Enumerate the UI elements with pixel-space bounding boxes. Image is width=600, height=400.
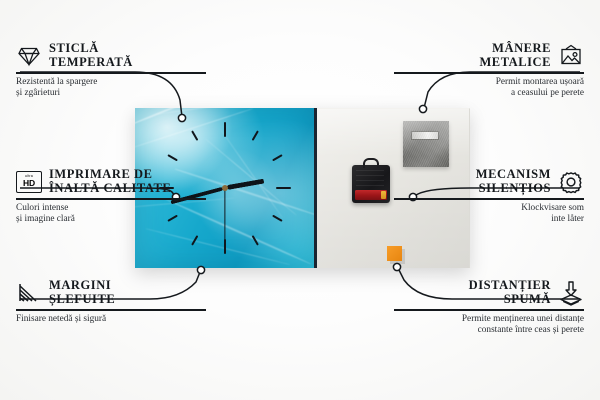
callout-title-line2: ÎNALTĂ CALITATE	[49, 181, 171, 195]
callout-title-line1: IMPRIMARE DE	[49, 167, 152, 181]
callout-subtitle-line2: inte låter	[551, 214, 584, 224]
callout-divider	[394, 198, 584, 200]
mechanism-detail	[356, 170, 384, 188]
polished-edge-icon	[16, 281, 42, 305]
callout-title-line1: STICLĂ	[49, 41, 99, 55]
callout-polished-edges: MARGINI ȘLEFUITE Finisare netedă și sigu…	[16, 279, 206, 325]
callout-divider	[16, 309, 206, 311]
ultra-hd-icon-big-text: HD	[23, 179, 35, 188]
battery	[355, 190, 387, 200]
mechanism-hanging-loop	[363, 158, 379, 168]
callout-foam-spacer: DISTANȚIER SPUMĂ Permite menținerea unei…	[394, 279, 584, 336]
callout-subtitle-line2: constante între ceas și perete	[478, 325, 584, 335]
callout-title-line2: ȘLEFUITE	[49, 292, 115, 306]
metal-hanger-plate	[403, 121, 449, 167]
callout-tempered-glass: STICLĂ TEMPERATĂ Rezistentă la spargere …	[16, 42, 206, 99]
callout-silent-mechanism: MECANISM SILENȚIOS Klockvisare som inte …	[394, 168, 584, 225]
callout-subtitle-line2: a ceasului pe perete	[511, 88, 584, 98]
callout-subtitle-line1: Culori intense	[16, 203, 68, 213]
foam-spacer-piece	[387, 246, 402, 261]
callout-title-line1: MARGINI	[49, 278, 111, 292]
gear-icon	[558, 170, 584, 194]
callout-subtitle-line1: Permite menținerea unei distanțe	[462, 314, 584, 324]
clock-mechanism	[352, 165, 390, 203]
callout-subtitle-line1: Finisare netedă și sigură	[16, 314, 106, 324]
infographic-stage: STICLĂ TEMPERATĂ Rezistentă la spargere …	[0, 0, 600, 400]
callout-divider	[16, 198, 206, 200]
callout-title-line2: SILENȚIOS	[479, 181, 551, 195]
picture-frame-icon	[558, 44, 584, 68]
press-down-icon	[558, 281, 584, 305]
callout-subtitle-line1: Klockvisare som	[521, 203, 584, 213]
callout-divider	[394, 309, 584, 311]
callout-title-line2: METALICE	[479, 55, 551, 69]
clock-center-cap	[222, 185, 228, 191]
ultra-hd-icon: ultra HD	[16, 170, 42, 194]
callout-title-line1: MECANISM	[476, 167, 551, 181]
callout-divider	[16, 72, 206, 74]
callout-title-line1: MÂNERE	[492, 41, 551, 55]
clock-second-hand	[224, 188, 225, 250]
callout-divider	[394, 72, 584, 74]
callout-metal-handles: MÂNERE METALICE Permit montarea ușoară a…	[394, 42, 584, 99]
callout-subtitle-line1: Permit montarea ușoară	[496, 77, 584, 87]
callout-subtitle-line1: Rezistentă la spargere	[16, 77, 97, 87]
callout-subtitle-line2: și imagine clară	[16, 214, 75, 224]
diamond-icon	[16, 44, 42, 68]
callout-high-quality-print: ultra HD IMPRIMARE DE ÎNALTĂ CALITATE Cu…	[16, 168, 206, 225]
callout-title-line2: SPUMĂ	[504, 292, 551, 306]
callout-subtitle-line2: și zgârieturi	[16, 88, 60, 98]
callout-title-line2: TEMPERATĂ	[49, 55, 133, 69]
callout-title-line1: DISTANȚIER	[469, 278, 551, 292]
